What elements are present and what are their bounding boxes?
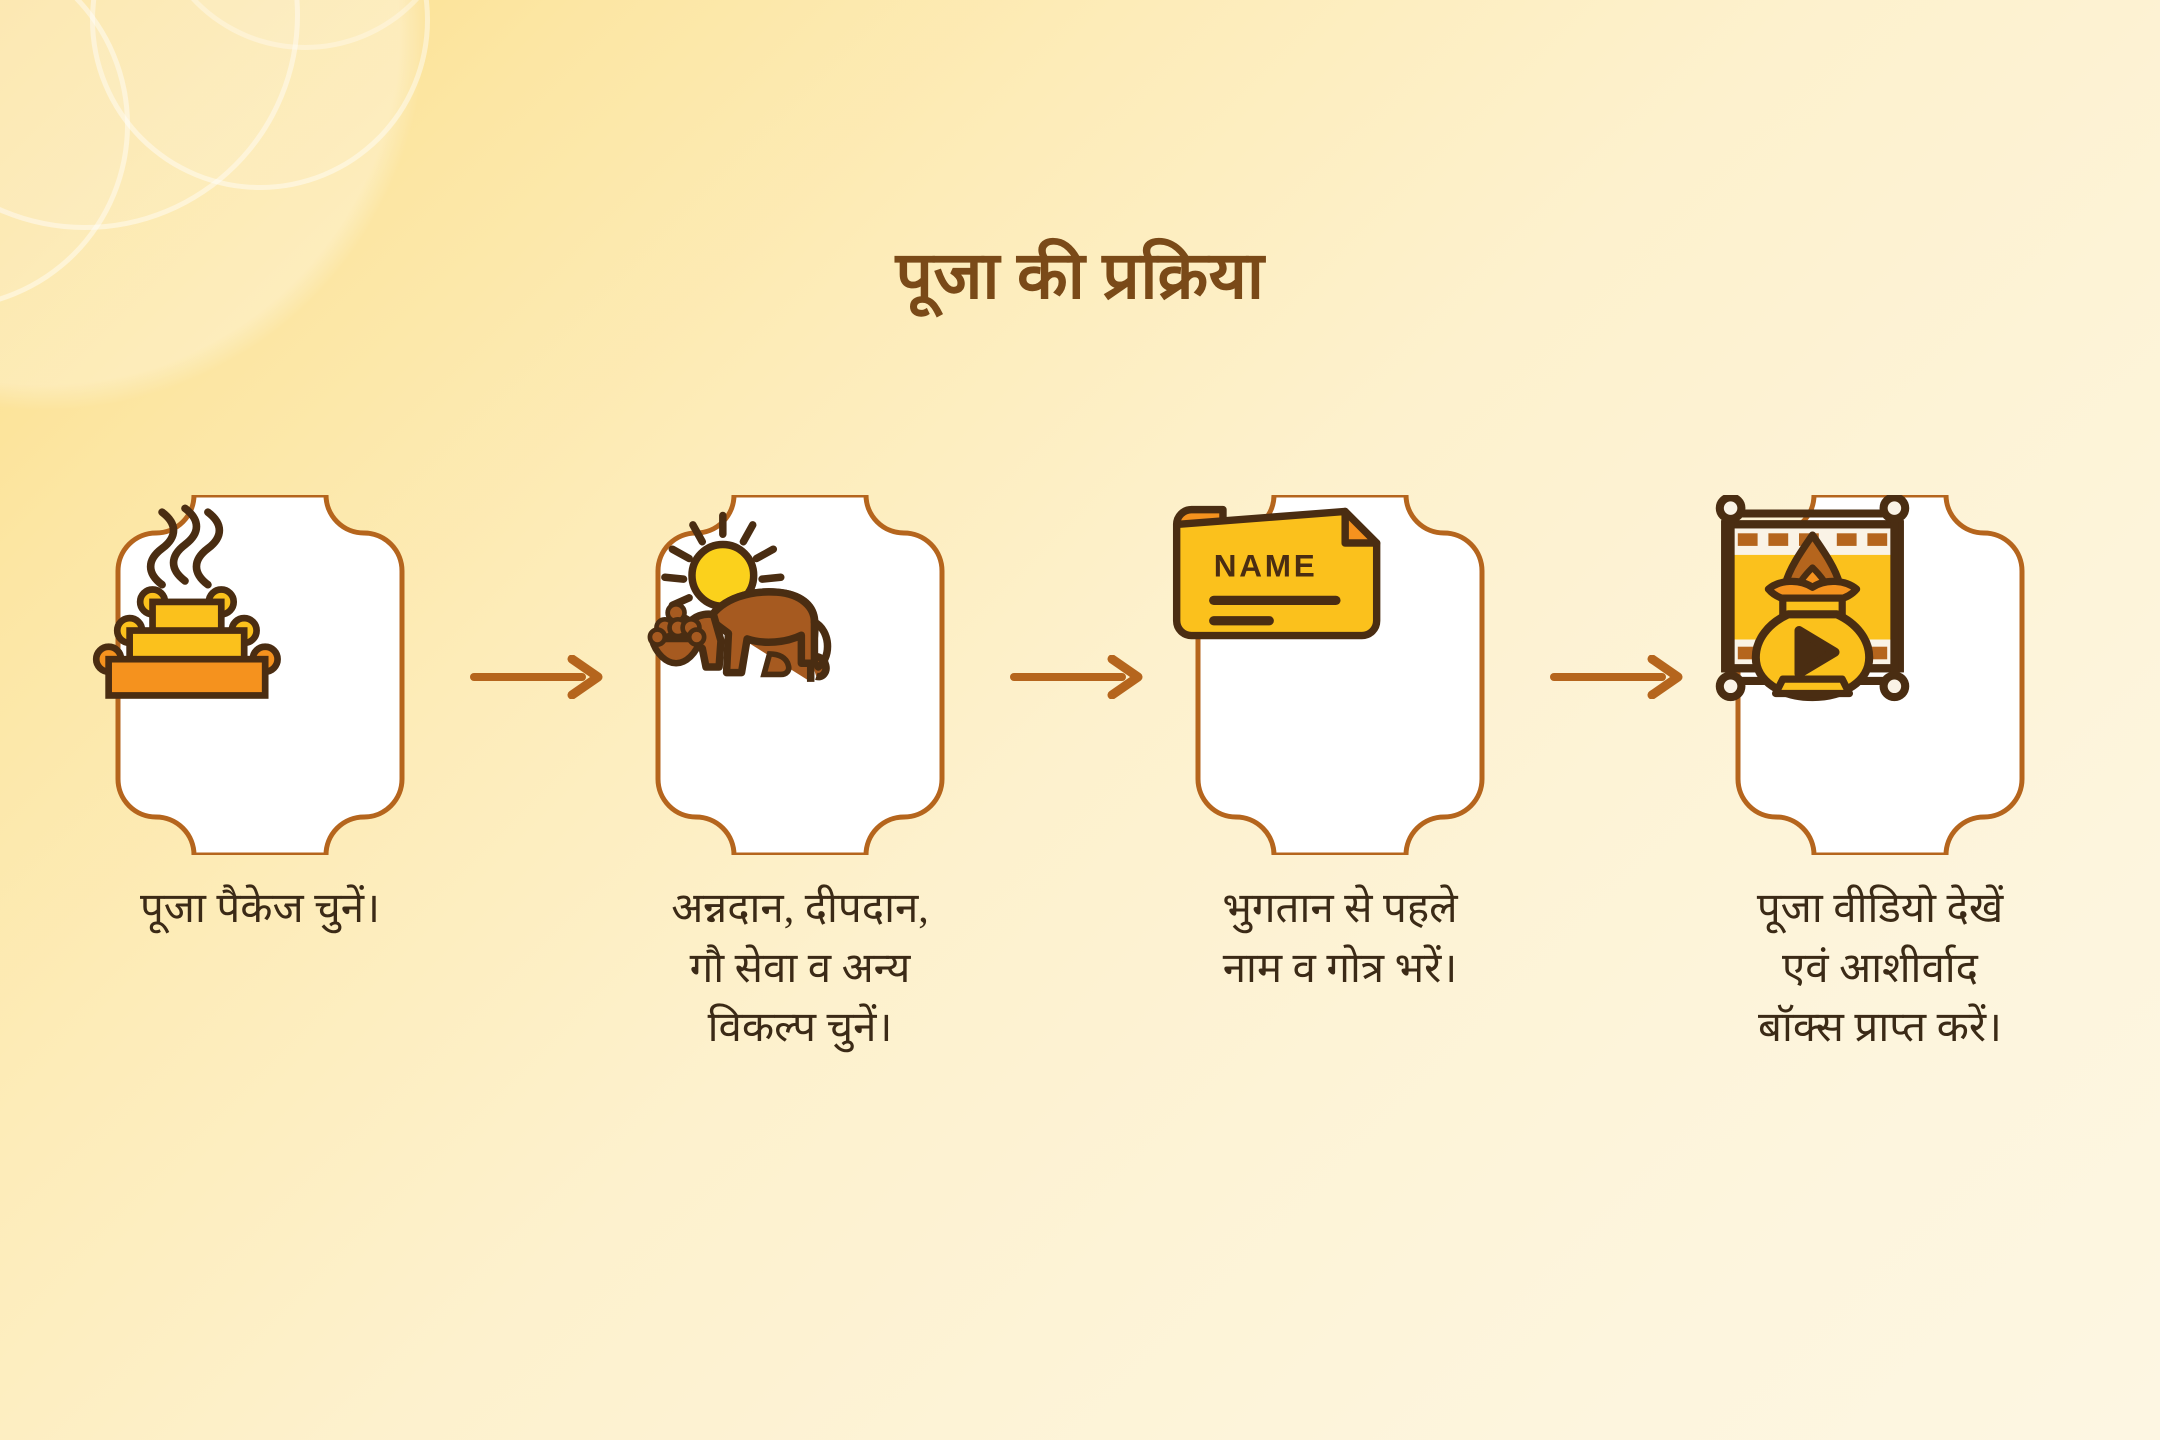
step-4-caption: पूजा वीडियो देखें एवं आशीर्वाद बॉक्स प्र…	[1670, 880, 2090, 1059]
step-4-card[interactable]	[1700, 495, 2060, 855]
caption-line: अन्नदान, दीपदान,	[590, 880, 1010, 940]
caption-line: गौ सेवा व अन्य	[590, 940, 1010, 1000]
step-2[interactable]	[620, 495, 980, 855]
step-3-card[interactable]: NAME	[1160, 495, 1520, 855]
puja-altar-icon	[80, 495, 440, 855]
process-flow: NAME	[0, 495, 2160, 855]
decorative-petal-2	[90, 0, 430, 190]
step-1-card[interactable]	[80, 495, 440, 855]
arrow-2	[1010, 655, 1150, 699]
arrow-1	[470, 655, 610, 699]
caption-line: पूजा वीडियो देखें	[1670, 880, 2090, 940]
caption-line: बॉक्स प्राप्त करें।	[1670, 999, 2090, 1059]
name-form-label: NAME	[1214, 548, 1318, 583]
decorative-petal-1	[0, 0, 300, 230]
step-1[interactable]	[80, 495, 440, 855]
caption-line: भुगतान से पहले	[1130, 880, 1550, 940]
page-title: पूजा की प्रक्रिया	[0, 244, 2160, 310]
step-1-caption: पूजा पैकेज चुनें।	[50, 880, 470, 940]
caption-line: विकल्प चुनें।	[590, 999, 1010, 1059]
cow-seva-icon	[620, 495, 980, 855]
caption-line: पूजा पैकेज चुनें।	[50, 880, 470, 940]
arrow-3	[1550, 655, 1690, 699]
step-3-caption: भुगतान से पहले नाम व गोत्र भरें।	[1130, 880, 1550, 999]
step-2-card[interactable]	[620, 495, 980, 855]
name-form-icon: NAME	[1160, 495, 1520, 855]
caption-line: नाम व गोत्र भरें।	[1130, 940, 1550, 1000]
decorative-petal-4	[150, 0, 460, 50]
infographic-canvas: पूजा की प्रक्रिया	[0, 0, 2160, 1440]
caption-line: एवं आशीर्वाद	[1670, 940, 2090, 1000]
puja-video-kalash-icon	[1700, 495, 2060, 855]
step-4[interactable]	[1700, 495, 2060, 855]
step-3[interactable]: NAME	[1160, 495, 1520, 855]
step-2-caption: अन्नदान, दीपदान, गौ सेवा व अन्य विकल्प च…	[590, 880, 1010, 1059]
